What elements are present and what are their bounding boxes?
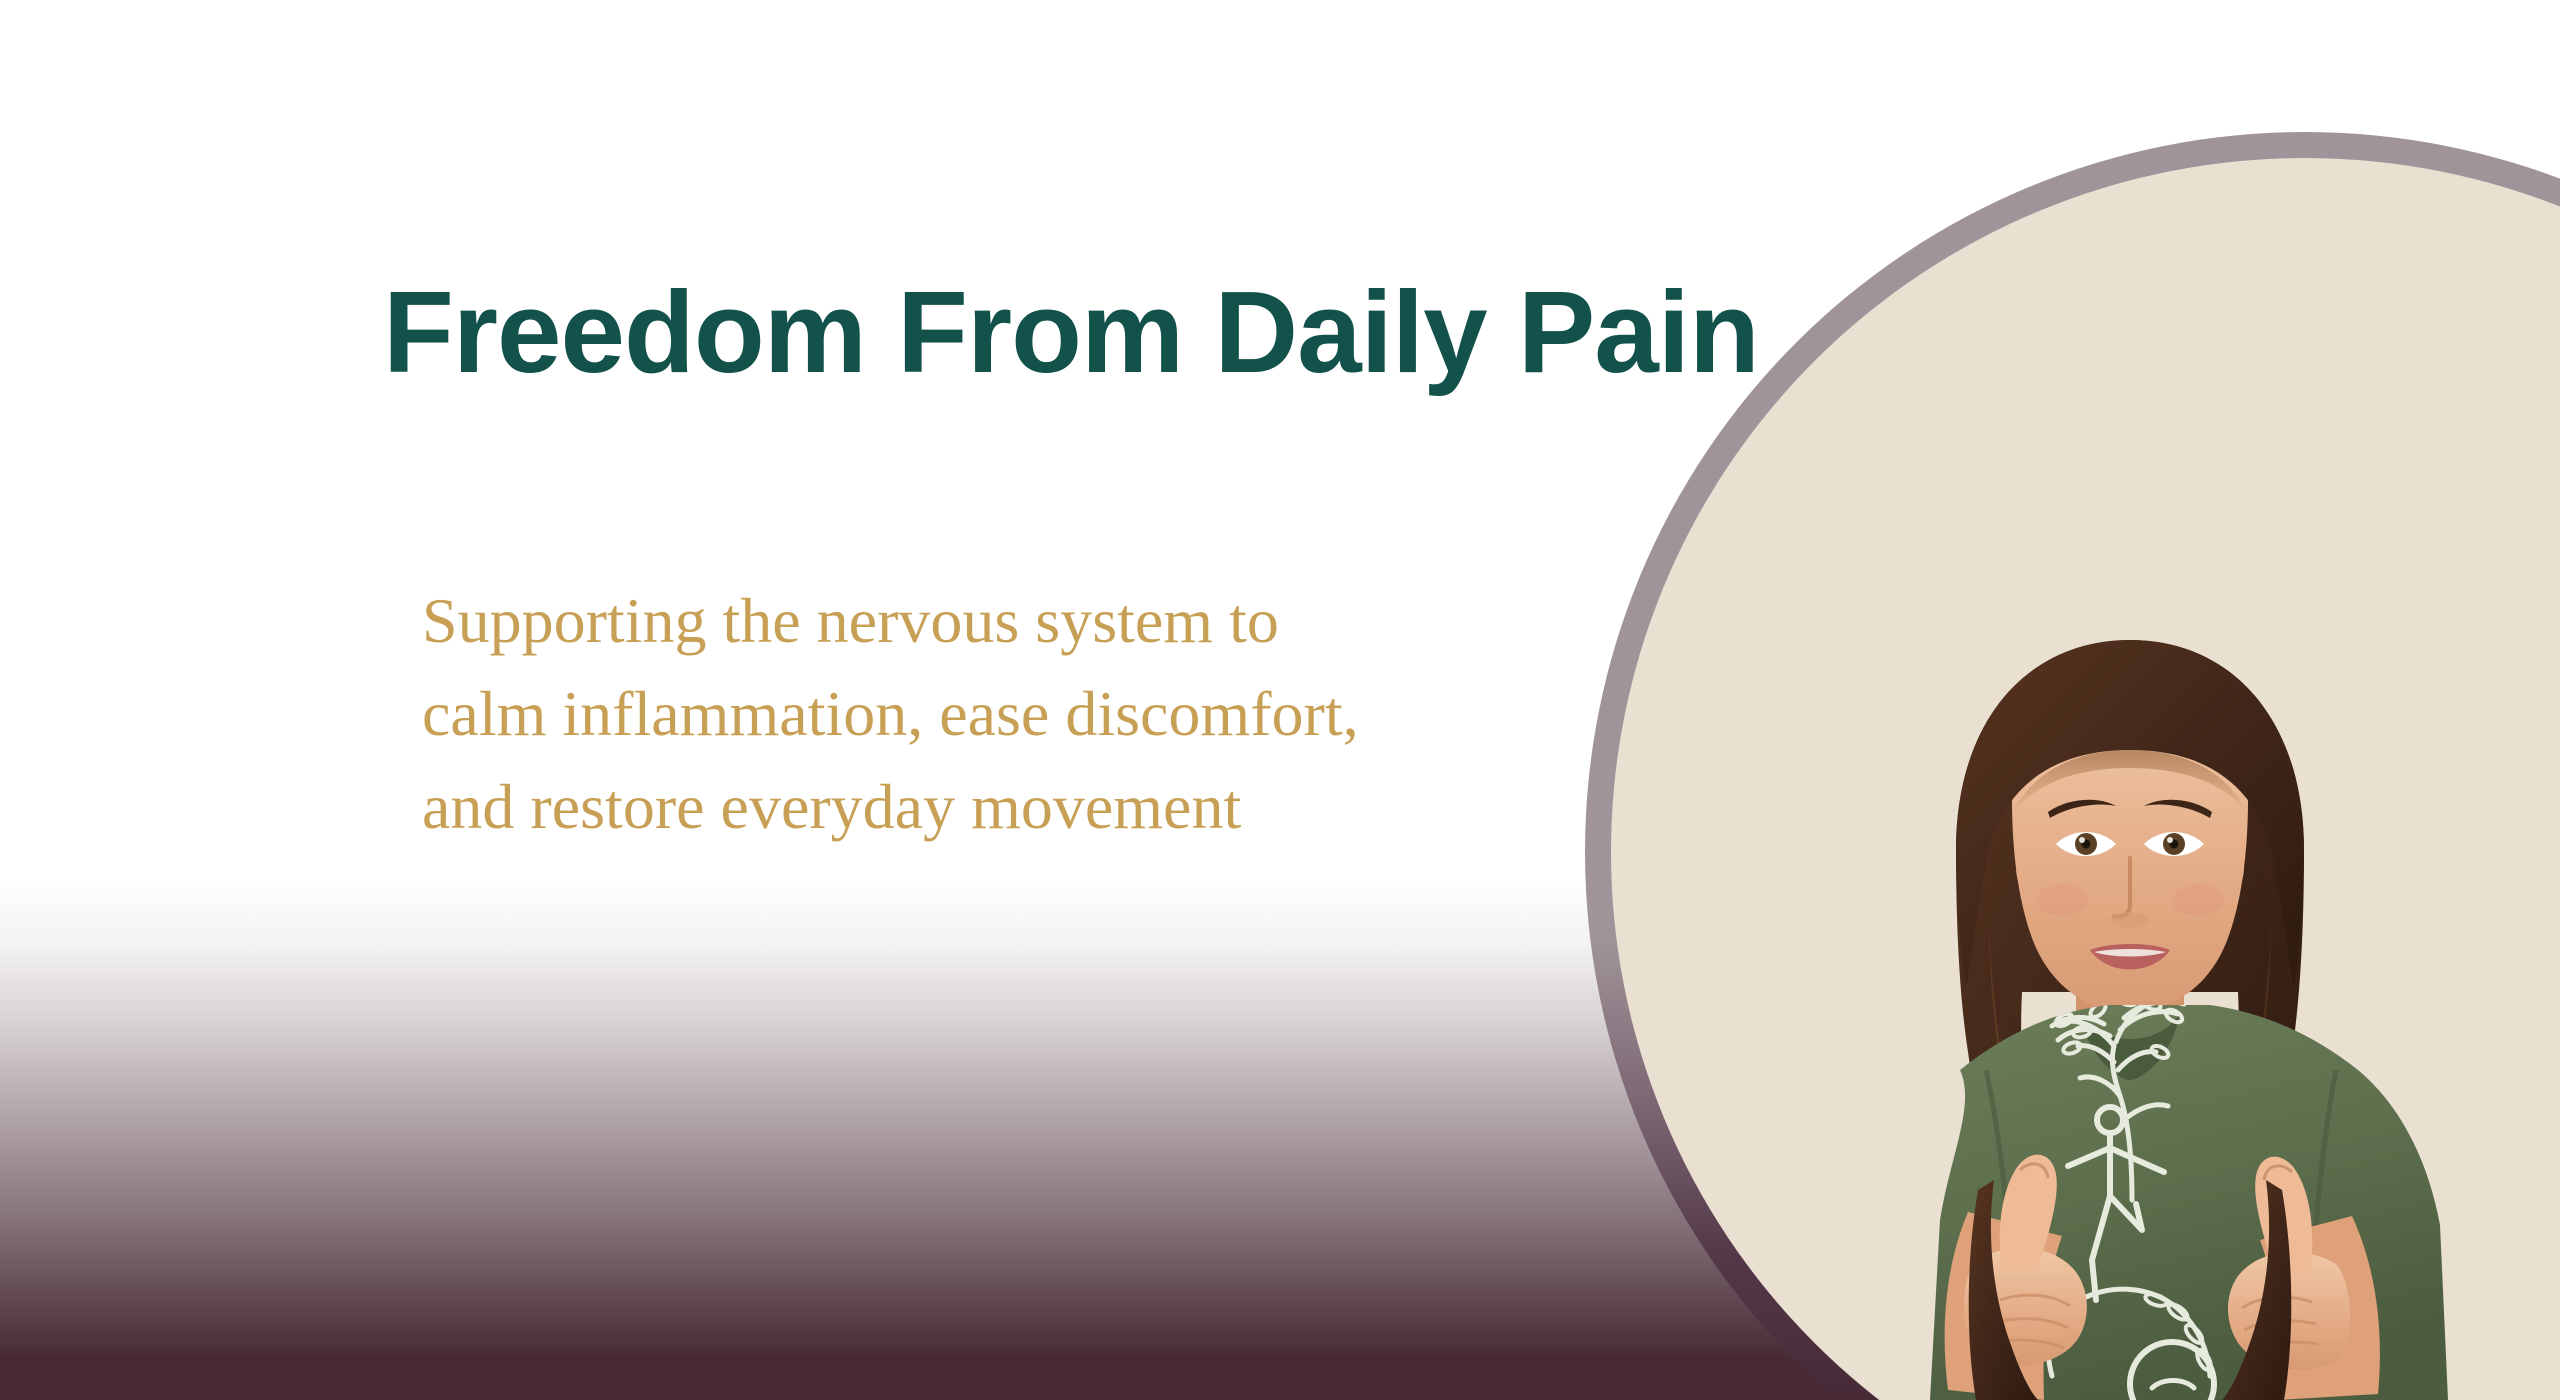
text-block: Freedom From Daily Pain Supporting the n… bbox=[383, 270, 1563, 395]
subtitle-line-3: and restore everyday movement bbox=[422, 760, 1542, 853]
subtitle: Supporting the nervous system to calm in… bbox=[422, 574, 1542, 853]
eye-left bbox=[2056, 832, 2116, 856]
subtitle-line-2: calm inflammation, ease discomfort, bbox=[422, 667, 1542, 760]
page-title: Freedom From Daily Pain bbox=[383, 270, 1563, 395]
eyebrow-left bbox=[2048, 800, 2116, 818]
bottom-gradient-band bbox=[0, 880, 2560, 1400]
eye-right bbox=[2144, 832, 2204, 856]
subtitle-line-1: Supporting the nervous system to bbox=[422, 574, 1542, 667]
eyebrow-right bbox=[2144, 800, 2212, 818]
slide-canvas: Freedom From Daily Pain Supporting the n… bbox=[0, 0, 2560, 1400]
